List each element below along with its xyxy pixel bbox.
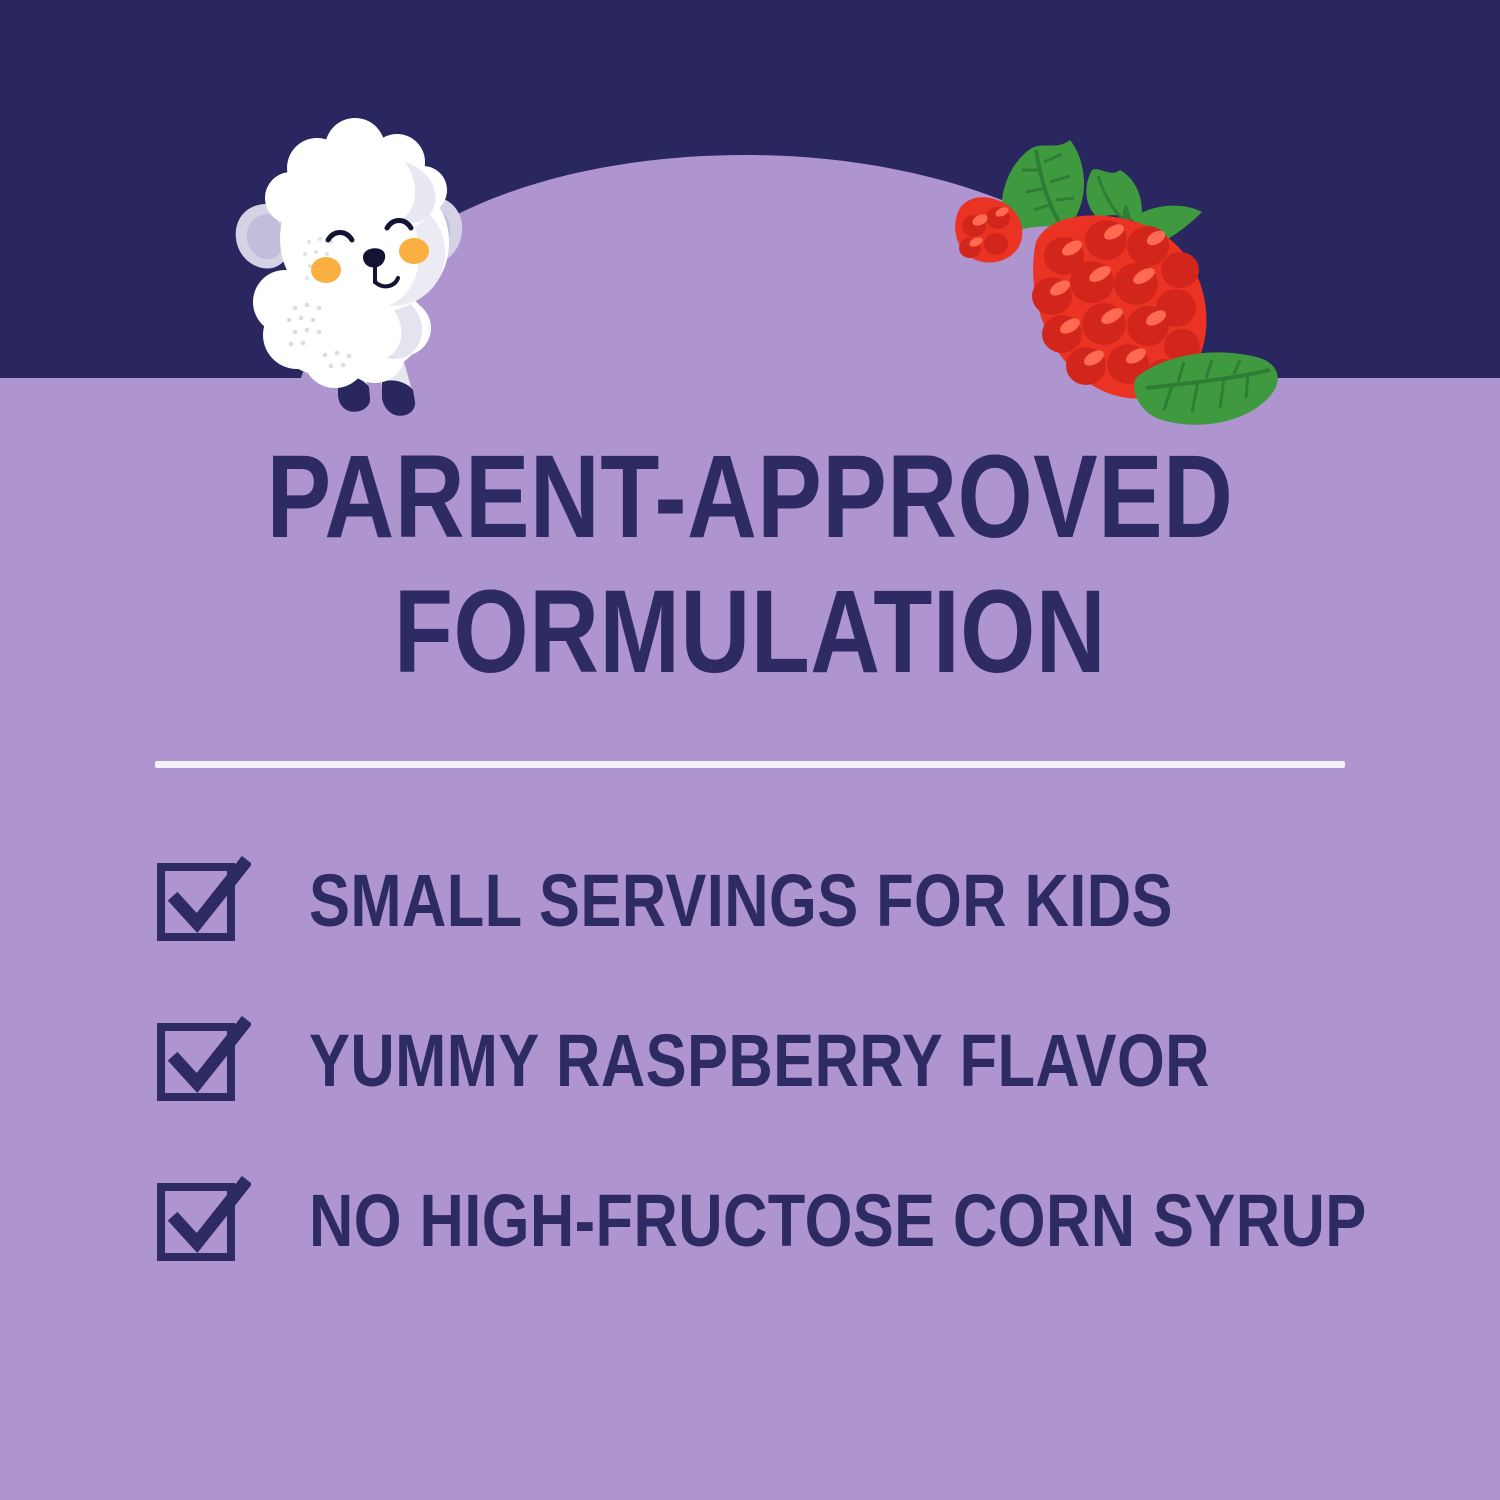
page-title-line-2: FORMULATION [233, 565, 1266, 700]
list-item: YUMMY RASPBERRY FLAVOR [155, 1000, 1460, 1122]
raspberry-illustration [940, 130, 1285, 435]
list-item: SMALL SERVINGS FOR KIDS [155, 840, 1460, 962]
feature-list: SMALL SERVINGS FOR KIDS YUMMY RASPBERRY … [0, 840, 1500, 1282]
list-item-label: NO HIGH-FRUCTOSE CORN SYRUP [309, 1184, 1367, 1258]
list-item: NO HIGH-FRUCTOSE CORN SYRUP [155, 1160, 1460, 1282]
sheep-mascot-illustration [225, 110, 500, 420]
checkbox-checked-icon [155, 1013, 251, 1109]
horizontal-rule [155, 761, 1345, 768]
list-item-label: YUMMY RASPBERRY FLAVOR [309, 1024, 1210, 1098]
divider-container [0, 761, 1500, 768]
page-title: PARENT-APPROVED FORMULATION [0, 430, 1500, 699]
checkbox-checked-icon [155, 853, 251, 949]
page-title-line-1: PARENT-APPROVED [233, 430, 1266, 565]
checkbox-checked-icon [155, 1173, 251, 1269]
feature-panel: PARENT-APPROVED FORMULATION SMALL SERVIN… [0, 0, 1500, 1500]
list-item-label: SMALL SERVINGS FOR KIDS [309, 864, 1173, 938]
